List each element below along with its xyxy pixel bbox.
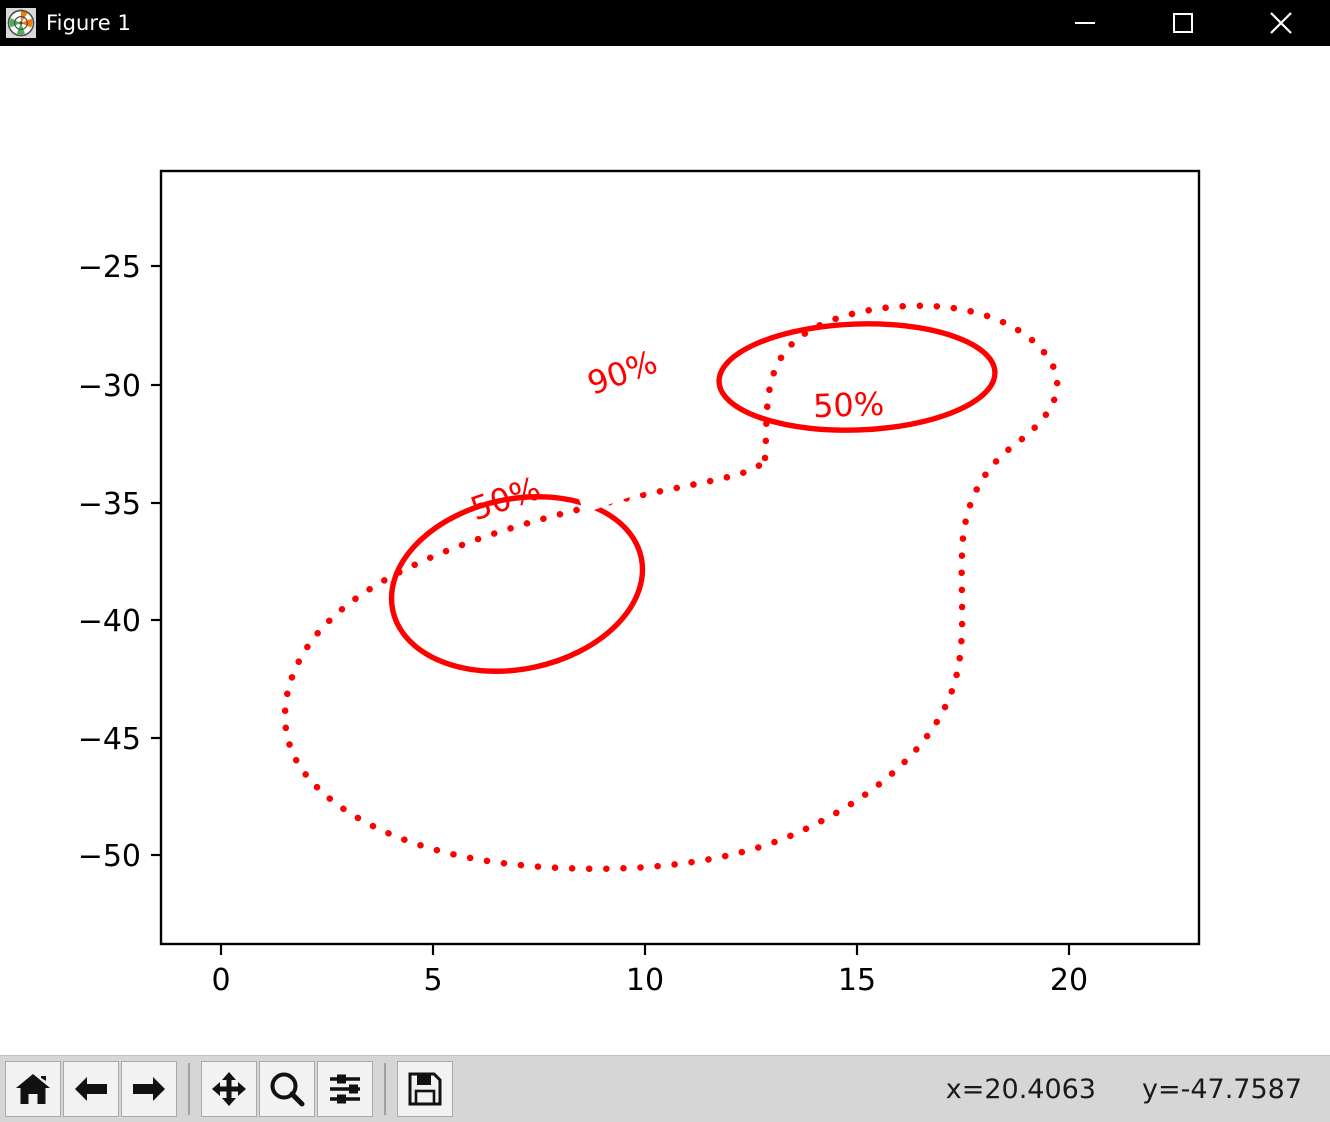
zoom-button[interactable]: [259, 1061, 315, 1117]
coordinate-readout: x=20.4063 y=-47.7587: [946, 1056, 1302, 1122]
forward-button[interactable]: [121, 1061, 177, 1117]
y-tick-label: −35: [78, 487, 141, 522]
coord-x: x=20.4063: [946, 1074, 1096, 1105]
x-tick-label: 20: [1050, 963, 1088, 998]
axes-frame: [161, 171, 1199, 944]
magnifier-icon: [267, 1069, 307, 1109]
x-axis-ticks: [221, 944, 1069, 955]
x-tick-label: 15: [838, 963, 876, 998]
arrow-right-icon: [129, 1069, 169, 1109]
title-bar: Figure 1: [0, 0, 1330, 46]
x-tick-label: 0: [211, 963, 230, 998]
y-tick-label: −50: [78, 839, 141, 874]
toolbar-separator: [188, 1063, 190, 1115]
y-axis-ticks: [151, 266, 161, 855]
navigation-toolbar: x=20.4063 y=-47.7587: [0, 1055, 1330, 1122]
y-tick-label: −30: [78, 369, 141, 404]
floppy-disk-icon: [405, 1069, 445, 1109]
home-button[interactable]: [5, 1061, 61, 1117]
y-tick-label: −40: [78, 604, 141, 639]
pan-button[interactable]: [201, 1061, 257, 1117]
close-button[interactable]: [1232, 0, 1330, 46]
home-icon: [13, 1069, 53, 1109]
arrow-left-icon: [71, 1069, 111, 1109]
y-tick-label: −25: [78, 250, 141, 285]
window-controls: [1036, 0, 1330, 46]
x-tick-label: 5: [423, 963, 442, 998]
y-axis-tick-labels: −25 −30 −35 −40 −45 −50: [78, 250, 141, 874]
maximize-button[interactable]: [1134, 0, 1232, 46]
figure-window: Figure 1 Region cove: [0, 0, 1330, 1122]
back-button[interactable]: [63, 1061, 119, 1117]
save-button[interactable]: [397, 1061, 453, 1117]
contour-label-50-upper: 50%: [812, 385, 884, 425]
figure-canvas[interactable]: Region coverage predicted by work/gmm/mf…: [0, 46, 1330, 1055]
minimize-button[interactable]: [1036, 0, 1134, 46]
move-icon: [209, 1069, 249, 1109]
matplotlib-icon: [6, 8, 36, 38]
coord-y: y=-47.7587: [1142, 1074, 1302, 1105]
subplots-button[interactable]: [317, 1061, 373, 1117]
toolbar-separator: [384, 1063, 386, 1115]
sliders-icon: [325, 1069, 365, 1109]
y-tick-label: −45: [78, 722, 141, 757]
x-tick-label: 10: [626, 963, 664, 998]
window-title: Figure 1: [46, 11, 131, 35]
x-axis-tick-labels: 0 5 10 15 20: [211, 963, 1088, 998]
